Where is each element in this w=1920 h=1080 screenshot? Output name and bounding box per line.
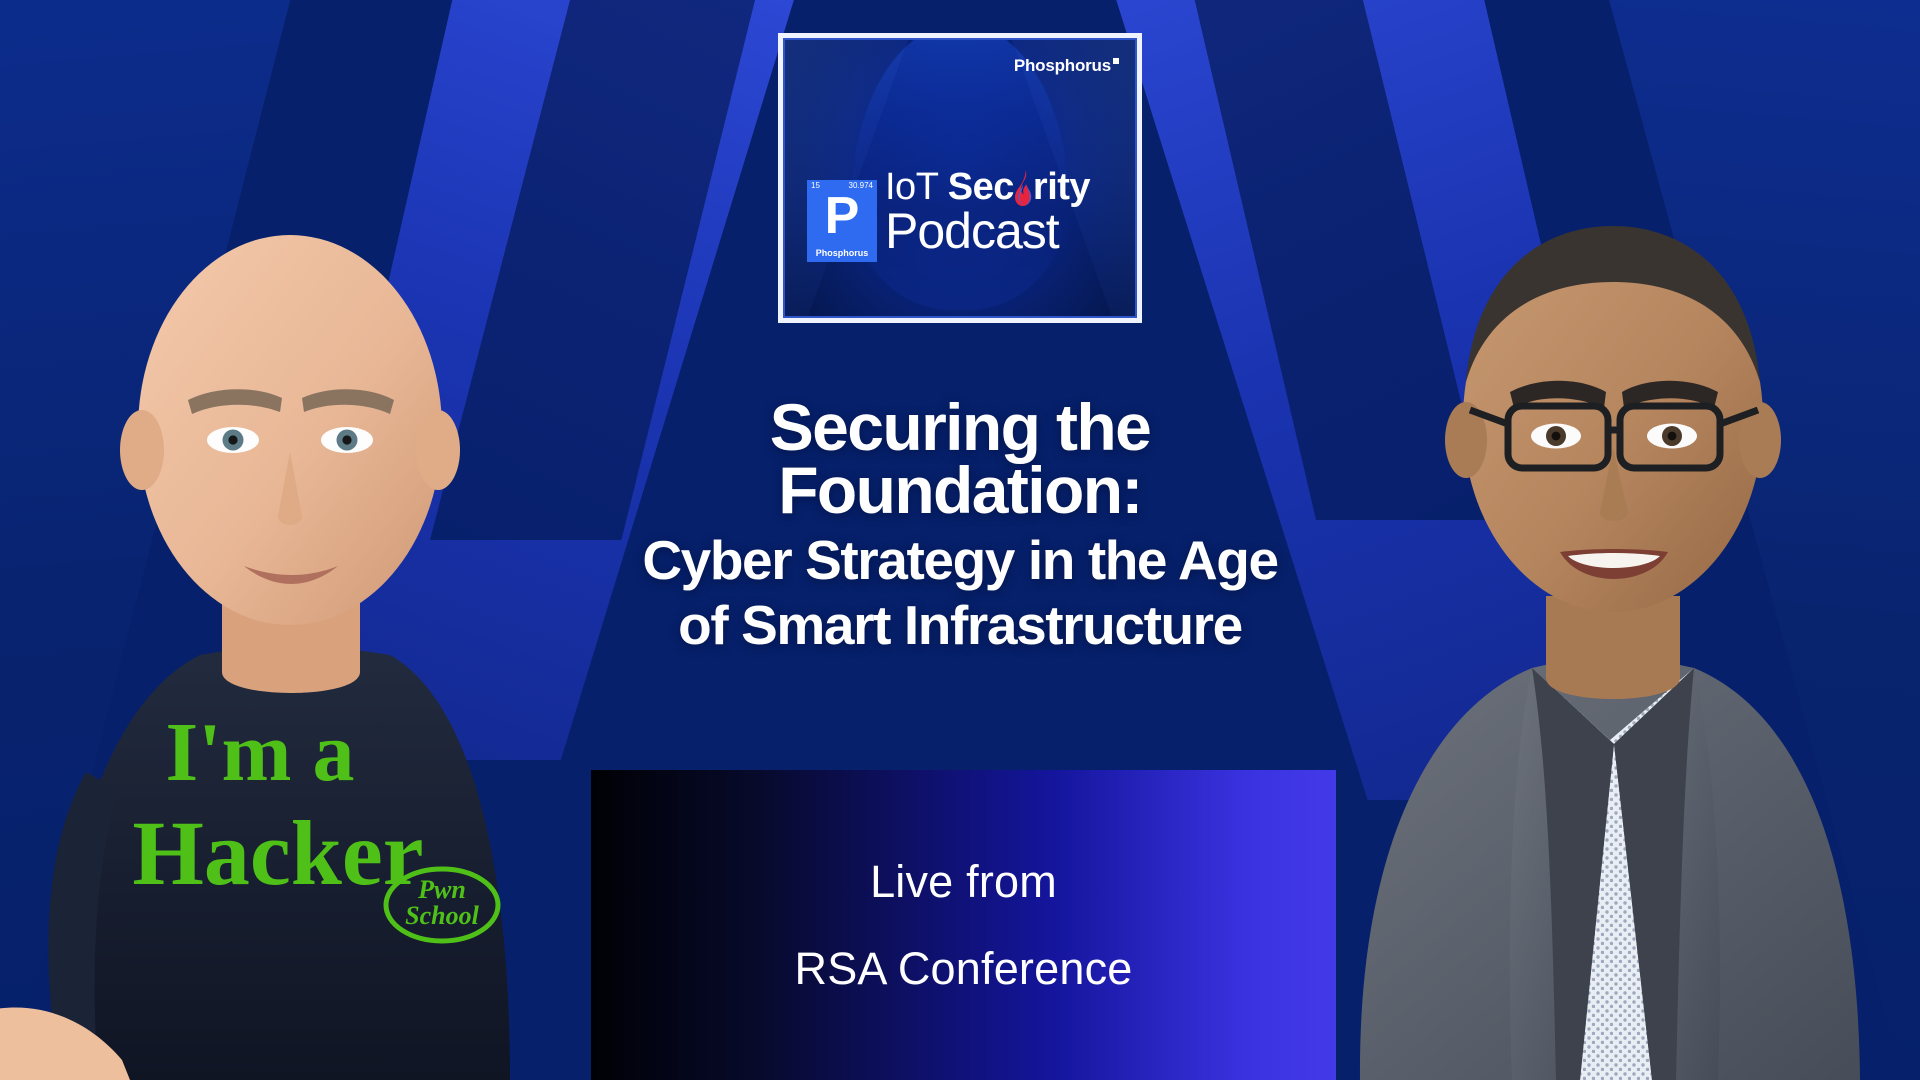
shirt-badge-line1: Pwn (417, 875, 466, 904)
phosphorus-logo-text: Phosphorus (1014, 56, 1111, 75)
cover-title-iot: IoT (885, 166, 948, 208)
cover-title-line1: IoT Secrity (885, 168, 1090, 208)
live-location-banner: Live from RSA Conference (591, 770, 1336, 1080)
periodic-element-tile: 15 30.974 P Phosphorus (807, 180, 877, 262)
cover-title-line2: Podcast (885, 206, 1090, 257)
cover-art-title: IoT Secrity Podcast (885, 168, 1090, 257)
shirt-badge-line2: School (405, 901, 479, 930)
headline-line3: Cyber Strategy in the Age (0, 533, 1920, 588)
shirt-text-line2: Hacker (132, 802, 423, 904)
banner-line2: RSA Conference (795, 946, 1133, 991)
phosphorus-logo-square-icon (1113, 58, 1119, 64)
headline-line4: of Smart Infrastructure (0, 598, 1920, 653)
episode-headline: Securing the Foundation: Cyber Strategy … (0, 396, 1920, 653)
flame-icon (1014, 168, 1033, 208)
cover-art-inner: Phosphorus 15 30.974 P Phosphorus IoT Se… (783, 38, 1137, 318)
podcast-cover-art: Phosphorus 15 30.974 P Phosphorus IoT Se… (778, 33, 1142, 323)
element-name: Phosphorus (807, 249, 877, 258)
cover-title-sec: Sec (948, 166, 1014, 208)
headline-line1: Securing the (0, 396, 1920, 459)
cover-title-rity: rity (1033, 166, 1090, 208)
element-symbol: P (807, 190, 877, 242)
banner-line1: Live from (870, 859, 1057, 904)
phosphorus-logo: Phosphorus (1014, 56, 1119, 76)
promo-graphic: I'm a Hacker Pwn School (0, 0, 1920, 1080)
shirt-text-line1: I'm a (166, 706, 355, 799)
headline-line2: Foundation: (0, 459, 1920, 522)
element-atomic-number: 15 (811, 182, 820, 190)
